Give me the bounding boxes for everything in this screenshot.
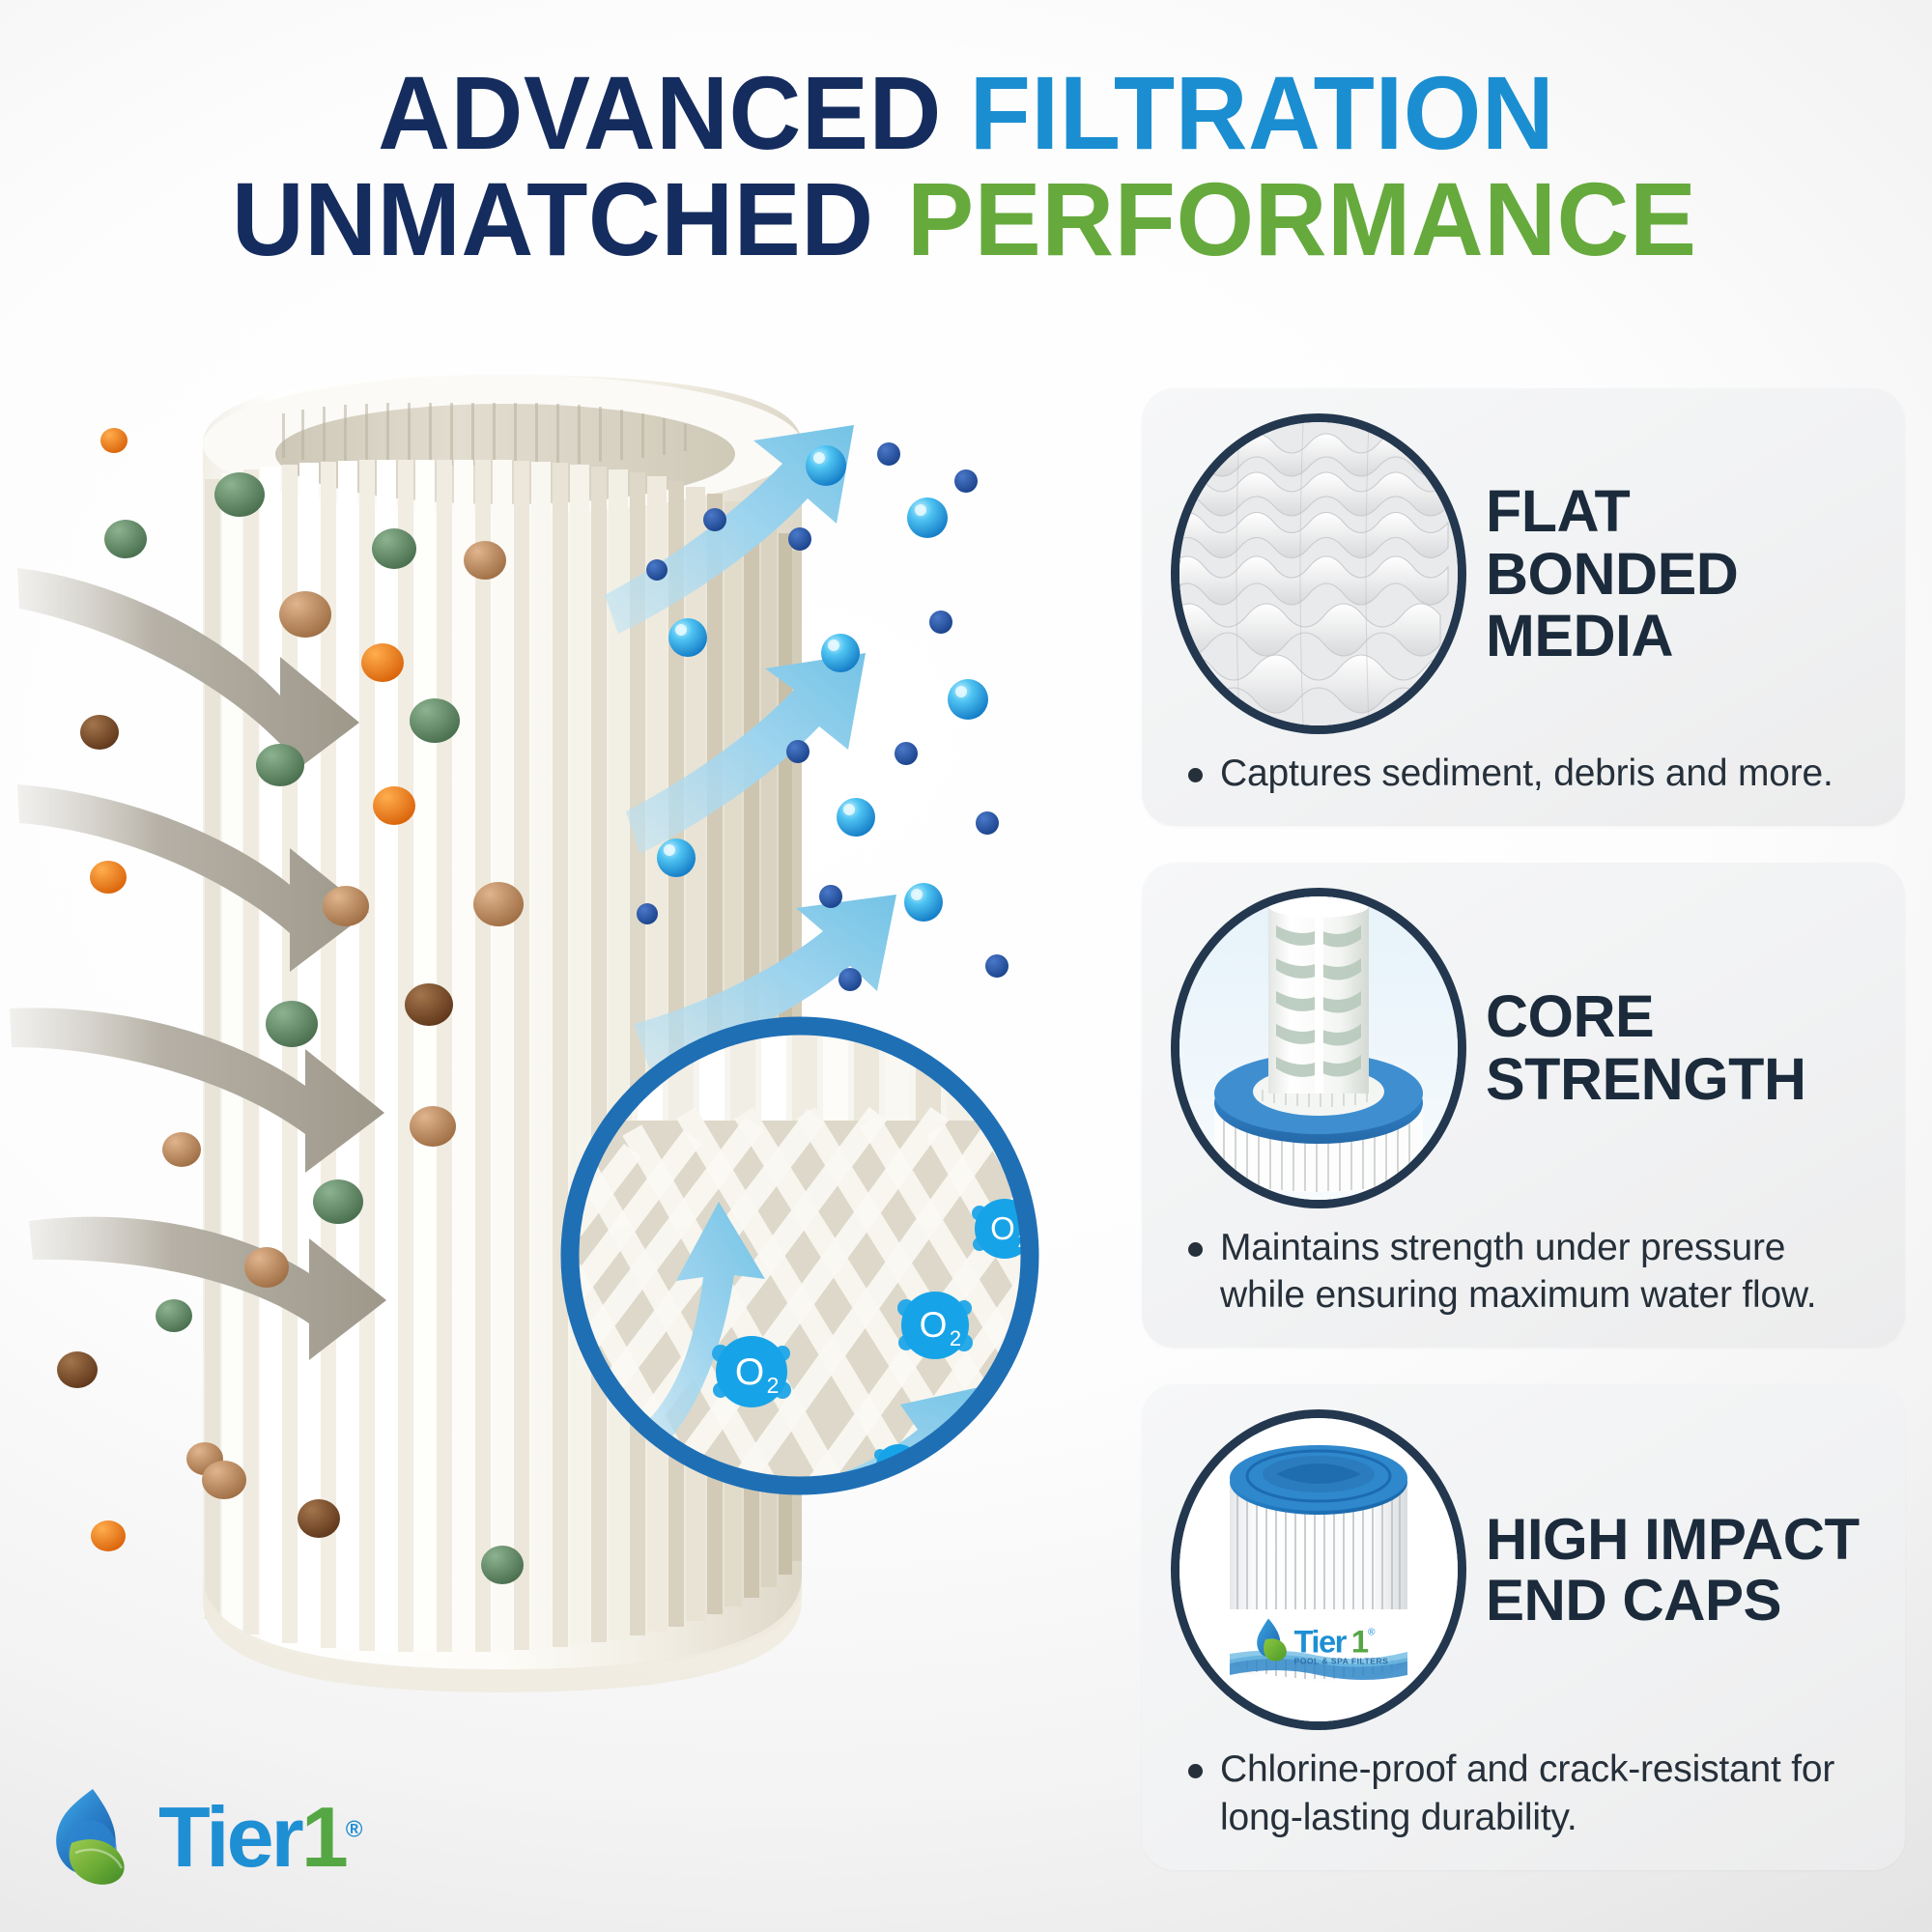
svg-text:O: O — [920, 1305, 948, 1345]
core-strength-icon — [1171, 888, 1466, 1208]
headline-line-1: ADVANCED FILTRATION — [0, 60, 1932, 166]
waterdrop-leaf-icon — [43, 1783, 151, 1891]
svg-text:2: 2 — [767, 1373, 780, 1398]
filter-cartridge-illustration: O 2 O 2 — [0, 290, 1140, 1855]
card-bullet: Captures sediment, debris and more. — [1171, 750, 1876, 797]
card-bullet: Chlorine-proof and crack-resistant for l… — [1171, 1746, 1876, 1840]
registered-mark-icon: ® — [346, 1817, 363, 1843]
feature-card-list: FLAT BONDED MEDIA Captures sediment, deb… — [1142, 388, 1905, 1907]
headline-performance: PERFORMANCE — [907, 166, 1696, 272]
high-impact-end-caps-icon: Tier 1 ® POOL & SPA FILTERS — [1171, 1409, 1466, 1730]
page-title: ADVANCED FILTRATION UNMATCHED PERFORMANC… — [0, 60, 1932, 272]
card-title: CORE STRENGTH — [1476, 985, 1806, 1110]
svg-text:O: O — [990, 1210, 1015, 1246]
svg-text:2: 2 — [907, 1467, 915, 1483]
feature-card-flat-bonded-media[interactable]: FLAT BONDED MEDIA Captures sediment, deb… — [1142, 388, 1905, 826]
card-header: CORE STRENGTH — [1171, 888, 1876, 1208]
svg-text:Tier: Tier — [1294, 1624, 1348, 1660]
svg-text:O: O — [735, 1351, 764, 1393]
o2-molecule: O 2 — [897, 1292, 973, 1359]
bullet-dot-icon — [1188, 1242, 1203, 1257]
card-bullet: Maintains strength under pressure while … — [1171, 1224, 1876, 1319]
headline-line-2: UNMATCHED PERFORMANCE — [0, 166, 1932, 272]
bullet-dot-icon — [1188, 1764, 1203, 1778]
headline-filtration: FILTRATION — [969, 60, 1554, 166]
brand-wordmark: Tier1® — [158, 1795, 362, 1880]
flat-bonded-media-icon — [1171, 413, 1466, 734]
svg-text:POOL & SPA FILTERS: POOL & SPA FILTERS — [1294, 1657, 1389, 1666]
o2-molecule: O 2 — [712, 1336, 791, 1407]
tier1-brand-logo: Tier1® — [43, 1783, 362, 1891]
feature-card-core-strength[interactable]: CORE STRENGTH Maintains strength under p… — [1142, 863, 1905, 1348]
infographic-canvas: ADVANCED FILTRATION UNMATCHED PERFORMANC… — [0, 0, 1932, 1932]
svg-text:1: 1 — [1351, 1624, 1369, 1660]
feature-card-high-impact-end-caps[interactable]: Tier 1 ® POOL & SPA FILTERS HIGH IMPACT — [1142, 1384, 1905, 1869]
svg-text:2: 2 — [950, 1326, 961, 1350]
brand-numeral: 1 — [301, 1789, 346, 1885]
bullet-dot-icon — [1188, 768, 1203, 782]
card-header: FLAT BONDED MEDIA — [1171, 413, 1876, 734]
card-header: Tier 1 ® POOL & SPA FILTERS HIGH IMPACT — [1171, 1409, 1876, 1730]
headline-advanced: ADVANCED — [378, 60, 942, 166]
card-bullet-text: Maintains strength under pressure while … — [1220, 1224, 1870, 1319]
card-bullet-text: Captures sediment, debris and more. — [1220, 750, 1833, 797]
card-title: FLAT BONDED MEDIA — [1476, 480, 1738, 668]
headline-unmatched: UNMATCHED — [232, 166, 874, 272]
card-bullet-text: Chlorine-proof and crack-resistant for l… — [1220, 1746, 1870, 1840]
card-title: HIGH IMPACT END CAPS — [1476, 1509, 1860, 1632]
brand-name: Tier — [158, 1789, 301, 1885]
svg-text:®: ® — [1368, 1628, 1376, 1638]
